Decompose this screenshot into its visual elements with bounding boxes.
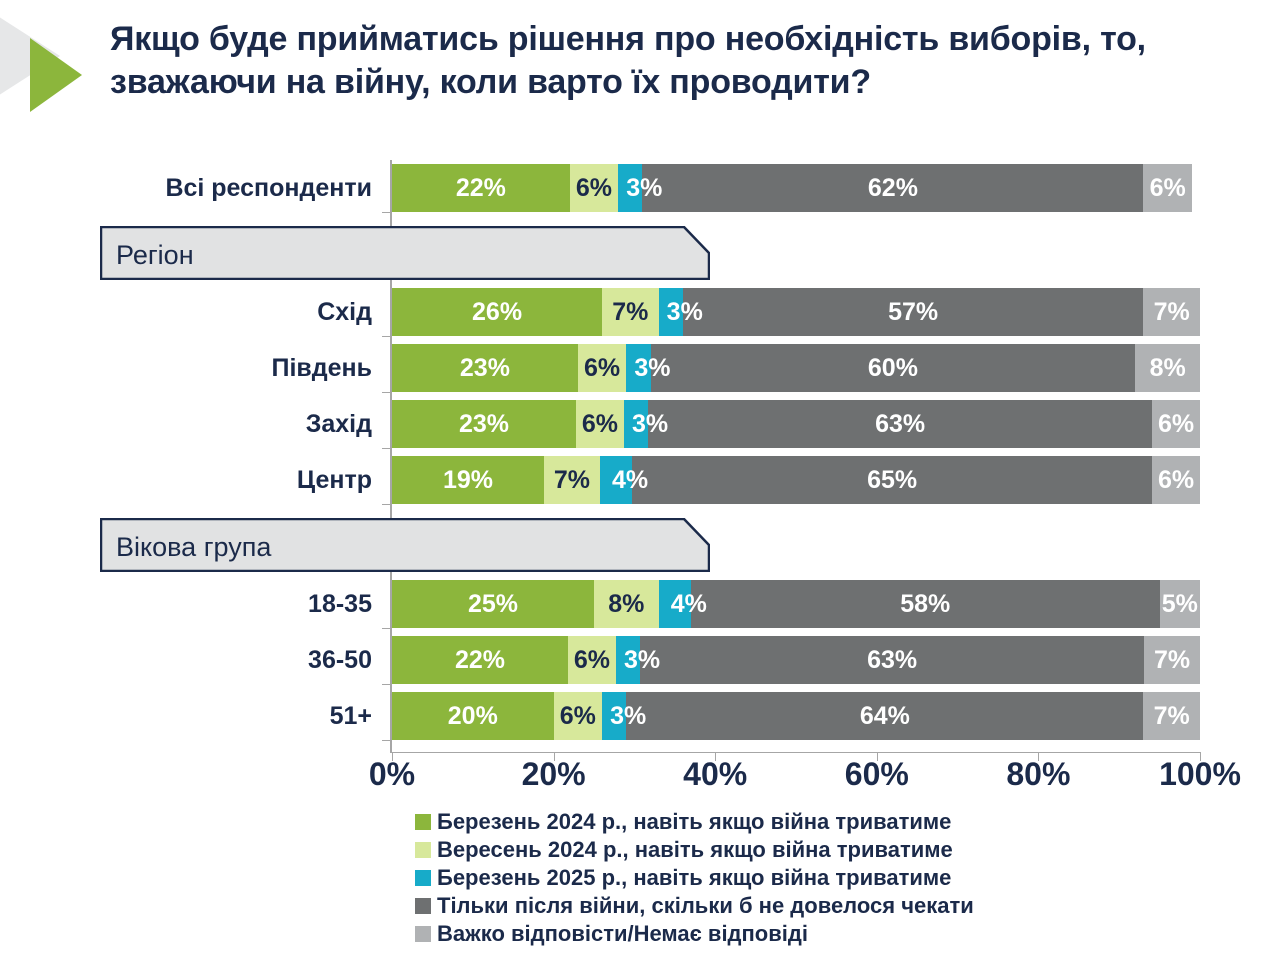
x-axis-tick-label: 0% bbox=[332, 756, 452, 793]
bar-value-label: 65% bbox=[867, 466, 917, 495]
stacked-bar: 20%6%3%64%7% bbox=[392, 692, 1200, 740]
stacked-bar: 22%6%3%63%7% bbox=[392, 636, 1200, 684]
bar-segment[interactable]: 3% bbox=[659, 288, 683, 336]
x-axis-tick-label: 100% bbox=[1140, 756, 1260, 793]
bar-value-label: 3% bbox=[667, 298, 703, 327]
legend-item[interactable]: Важко відповісти/Немає відповіді bbox=[415, 920, 974, 948]
bar-segment[interactable]: 6% bbox=[570, 164, 618, 212]
bar-segment[interactable]: 57% bbox=[683, 288, 1144, 336]
bar-segment[interactable]: 6% bbox=[1143, 164, 1191, 212]
bar-segment[interactable]: 3% bbox=[626, 344, 650, 392]
y-axis-tick bbox=[382, 628, 390, 629]
legend-color-swatch bbox=[415, 926, 431, 942]
bar-segment[interactable]: 8% bbox=[1135, 344, 1200, 392]
bar-segment[interactable]: 6% bbox=[1152, 400, 1200, 448]
chart-legend: Березень 2024 р., навіть якщо війна трив… bbox=[415, 808, 974, 948]
bar-value-label: 6% bbox=[576, 174, 612, 203]
bar-value-label: 25% bbox=[468, 590, 518, 619]
bar-value-label: 20% bbox=[448, 702, 498, 731]
bar-value-label: 6% bbox=[560, 702, 596, 731]
y-axis-tick bbox=[382, 212, 390, 213]
bar-value-label: 6% bbox=[1158, 410, 1194, 439]
category-label: 36-50 bbox=[120, 636, 372, 684]
y-axis-tick bbox=[382, 740, 390, 741]
legend-label: Важко відповісти/Немає відповіді bbox=[437, 921, 808, 947]
stacked-bar: 23%6%3%60%8% bbox=[392, 344, 1200, 392]
bar-value-label: 3% bbox=[626, 174, 662, 203]
bar-segment[interactable]: 7% bbox=[544, 456, 600, 504]
category-label: 51+ bbox=[120, 692, 372, 740]
bar-segment[interactable]: 65% bbox=[632, 456, 1152, 504]
bar-value-label: 63% bbox=[875, 410, 925, 439]
bar-value-label: 64% bbox=[860, 702, 910, 731]
bar-segment[interactable]: 60% bbox=[651, 344, 1136, 392]
bar-segment[interactable]: 3% bbox=[618, 164, 642, 212]
bar-value-label: 6% bbox=[1150, 174, 1186, 203]
y-axis-tick bbox=[382, 392, 390, 393]
bar-segment[interactable]: 19% bbox=[392, 456, 544, 504]
x-axis-tick-label: 40% bbox=[655, 756, 775, 793]
bar-segment[interactable]: 7% bbox=[1144, 636, 1200, 684]
bar-value-label: 3% bbox=[624, 646, 660, 675]
category-label: Центр bbox=[120, 456, 372, 504]
bar-value-label: 7% bbox=[612, 298, 648, 327]
group-header-label: Вікова група bbox=[116, 518, 271, 572]
bar-value-label: 58% bbox=[900, 590, 950, 619]
bar-segment[interactable]: 23% bbox=[392, 344, 578, 392]
bar-segment[interactable]: 3% bbox=[624, 400, 648, 448]
legend-label: Тільки після війни, скільки б не довелос… bbox=[437, 893, 974, 919]
bar-segment[interactable]: 6% bbox=[576, 400, 624, 448]
group-header-banner: Регіон bbox=[100, 226, 710, 280]
bar-value-label: 60% bbox=[868, 354, 918, 383]
y-axis-tick bbox=[382, 336, 390, 337]
bar-segment[interactable]: 6% bbox=[1152, 456, 1200, 504]
bar-value-label: 6% bbox=[582, 410, 618, 439]
bar-segment[interactable]: 58% bbox=[691, 580, 1160, 628]
bar-segment[interactable]: 22% bbox=[392, 636, 568, 684]
bar-segment[interactable]: 3% bbox=[616, 636, 640, 684]
bar-segment[interactable]: 63% bbox=[640, 636, 1144, 684]
bar-segment[interactable]: 20% bbox=[392, 692, 554, 740]
bar-segment[interactable]: 7% bbox=[602, 288, 659, 336]
bar-segment[interactable]: 62% bbox=[642, 164, 1143, 212]
legend-item[interactable]: Тільки після війни, скільки б не довелос… bbox=[415, 892, 974, 920]
x-axis-tick-label: 20% bbox=[494, 756, 614, 793]
bar-value-label: 26% bbox=[472, 298, 522, 327]
bar-value-label: 4% bbox=[671, 590, 707, 619]
category-label: 18-35 bbox=[120, 580, 372, 628]
bar-value-label: 7% bbox=[1154, 702, 1190, 731]
legend-color-swatch bbox=[415, 814, 431, 830]
bar-value-label: 62% bbox=[868, 174, 918, 203]
bar-segment[interactable]: 6% bbox=[554, 692, 602, 740]
bar-segment[interactable]: 63% bbox=[648, 400, 1152, 448]
category-label: Всі респонденти bbox=[120, 164, 372, 212]
bar-segment[interactable]: 25% bbox=[392, 580, 594, 628]
bar-value-label: 6% bbox=[574, 646, 610, 675]
category-label: Схід bbox=[120, 288, 372, 336]
x-axis-tick-label: 60% bbox=[817, 756, 937, 793]
bar-segment[interactable]: 4% bbox=[600, 456, 632, 504]
category-label: Південь bbox=[120, 344, 372, 392]
legend-item[interactable]: Березень 2024 р., навіть якщо війна трив… bbox=[415, 808, 974, 836]
bar-value-label: 4% bbox=[612, 466, 648, 495]
stacked-bar: 19%7%4%65%6% bbox=[392, 456, 1200, 504]
group-header-label: Регіон bbox=[116, 226, 194, 280]
bar-value-label: 8% bbox=[608, 590, 644, 619]
legend-color-swatch bbox=[415, 870, 431, 886]
bar-value-label: 22% bbox=[456, 174, 506, 203]
group-header-banner: Вікова група bbox=[100, 518, 710, 572]
stacked-bar: 26%7%3%57%7% bbox=[392, 288, 1200, 336]
bar-value-label: 7% bbox=[554, 466, 590, 495]
legend-label: Березень 2025 р., навіть якщо війна трив… bbox=[437, 865, 951, 891]
x-axis-line bbox=[390, 752, 1200, 753]
legend-label: Березень 2024 р., навіть якщо війна трив… bbox=[437, 809, 951, 835]
y-axis-tick bbox=[382, 448, 390, 449]
bar-segment[interactable]: 23% bbox=[392, 400, 576, 448]
bar-value-label: 7% bbox=[1154, 646, 1190, 675]
bar-segment[interactable]: 7% bbox=[1143, 288, 1200, 336]
bar-value-label: 8% bbox=[1150, 354, 1186, 383]
y-axis-tick bbox=[382, 504, 390, 505]
stacked-bar: 25%8%4%58%5% bbox=[392, 580, 1200, 628]
legend-label: Вересень 2024 р., навіть якщо війна трив… bbox=[437, 837, 953, 863]
bar-segment[interactable]: 64% bbox=[626, 692, 1143, 740]
bar-value-label: 5% bbox=[1162, 590, 1198, 619]
category-label: Захід bbox=[120, 400, 372, 448]
legend-color-swatch bbox=[415, 842, 431, 858]
bar-segment[interactable]: 6% bbox=[578, 344, 626, 392]
bar-value-label: 23% bbox=[459, 410, 509, 439]
bar-segment[interactable]: 7% bbox=[1143, 692, 1200, 740]
bar-value-label: 7% bbox=[1154, 298, 1190, 327]
bar-value-label: 6% bbox=[1158, 466, 1194, 495]
bar-segment[interactable]: 5% bbox=[1160, 580, 1200, 628]
x-axis-tick-label: 80% bbox=[978, 756, 1098, 793]
bar-segment[interactable]: 4% bbox=[659, 580, 691, 628]
bar-segment[interactable]: 8% bbox=[594, 580, 659, 628]
bar-value-label: 23% bbox=[460, 354, 510, 383]
legend-item[interactable]: Березень 2025 р., навіть якщо війна трив… bbox=[415, 864, 974, 892]
legend-item[interactable]: Вересень 2024 р., навіть якщо війна трив… bbox=[415, 836, 974, 864]
bar-segment[interactable]: 26% bbox=[392, 288, 602, 336]
bar-value-label: 3% bbox=[610, 702, 646, 731]
bar-value-label: 22% bbox=[455, 646, 505, 675]
bar-value-label: 6% bbox=[584, 354, 620, 383]
bar-value-label: 3% bbox=[634, 354, 670, 383]
stacked-bar: 23%6%3%63%6% bbox=[392, 400, 1200, 448]
bar-value-label: 3% bbox=[632, 410, 668, 439]
bar-segment[interactable]: 3% bbox=[602, 692, 626, 740]
bar-segment[interactable]: 6% bbox=[568, 636, 616, 684]
y-axis-tick bbox=[382, 684, 390, 685]
bar-value-label: 19% bbox=[443, 466, 493, 495]
bar-value-label: 57% bbox=[888, 298, 938, 327]
bar-value-label: 63% bbox=[867, 646, 917, 675]
stacked-bar: 22%6%3%62%6% bbox=[392, 164, 1200, 212]
bar-segment[interactable]: 22% bbox=[392, 164, 570, 212]
legend-color-swatch bbox=[415, 898, 431, 914]
